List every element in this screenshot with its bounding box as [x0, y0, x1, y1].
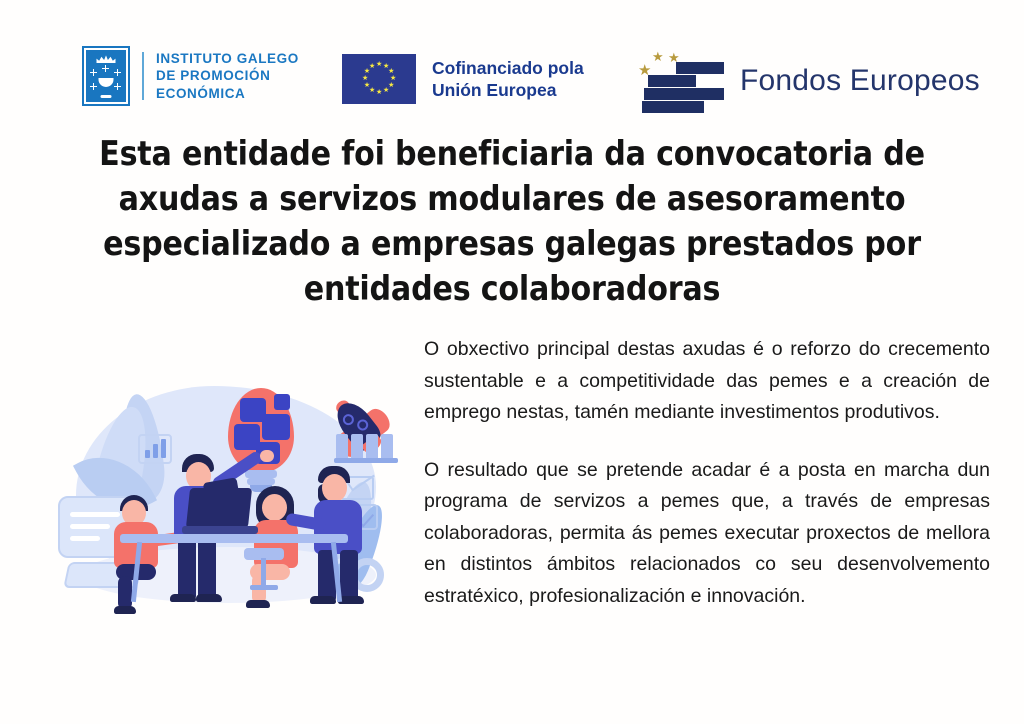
star-icon: ★: [364, 69, 370, 75]
body-paragraph-2: O resultado que se pretende acadar é a p…: [424, 455, 990, 613]
logo-bar: INSTITUTO GALEGO DE PROMOCIÓN ECONÓMICA …: [0, 40, 1024, 125]
star-icon: ★: [364, 83, 370, 89]
stepped-bar: [668, 101, 704, 113]
star-icon: ★: [369, 64, 375, 70]
star-icon: ★: [652, 50, 664, 63]
puzzle-piece: [262, 414, 290, 440]
puzzle-piece: [274, 394, 290, 410]
laptop-on-table: [182, 488, 256, 536]
igape-line-3: ECONÓMICA: [156, 85, 299, 102]
cross-icon: [90, 83, 97, 90]
star-icon: ★: [369, 88, 375, 94]
cross-icon: [90, 69, 97, 76]
eu-line-2: Unión Europea: [432, 79, 584, 101]
crown-icon: [97, 55, 116, 63]
person-standing-right: [302, 460, 386, 602]
stepped-bar: [644, 88, 676, 100]
stool: [244, 548, 284, 592]
business-team-collaboration-illustration: [34, 372, 410, 628]
chair-detail: [70, 524, 110, 529]
galicia-coat-of-arms-icon: [84, 48, 128, 104]
body-text-column: O obxectivo principal destas axudas é o …: [424, 334, 990, 613]
chair-detail: [70, 536, 100, 541]
igape-logo-text: INSTITUTO GALEGO DE PROMOCIÓN ECONÓMICA: [156, 50, 299, 102]
logo-igape: INSTITUTO GALEGO DE PROMOCIÓN ECONÓMICA: [84, 48, 299, 104]
stepped-bar: [674, 88, 724, 100]
star-icon: ★: [383, 88, 389, 94]
igape-line-2: DE PROMOCIÓN: [156, 67, 299, 84]
stepped-bar: [676, 62, 724, 74]
fondos-europeos-label: Fondos Europeos: [740, 64, 980, 98]
eu-logo-text: Cofinanciado pola Unión Europea: [432, 57, 584, 102]
logo-fondos-europeos: ★ ★ ★ Fondos Europeos: [630, 50, 980, 112]
logo-european-union: ★★★★★★★★★★★★ Cofinanciado pola Unión Eur…: [342, 54, 584, 104]
fondos-europeos-mark-icon: ★ ★ ★: [630, 50, 726, 112]
star-icon: ★: [376, 62, 382, 68]
page-title: Esta entidade foi beneficiaria da convoc…: [92, 132, 932, 312]
cross-icon: [114, 83, 121, 90]
star-icon: ★: [376, 90, 382, 96]
poster-page: INSTITUTO GALEGO DE PROMOCIÓN ECONÓMICA …: [0, 0, 1024, 724]
chalice-icon: [98, 78, 115, 98]
body-paragraph-1: O obxectivo principal destas axudas é o …: [424, 334, 990, 429]
logo-divider: [142, 52, 144, 100]
igape-line-1: INSTITUTO GALEGO: [156, 50, 299, 67]
eu-flag-icon: ★★★★★★★★★★★★: [342, 54, 416, 104]
cross-icon: [114, 69, 121, 76]
star-icon: ★: [362, 76, 368, 82]
cross-icon: [102, 65, 109, 72]
eu-line-1: Cofinanciado pola: [432, 57, 584, 79]
stepped-bar: [648, 75, 696, 87]
